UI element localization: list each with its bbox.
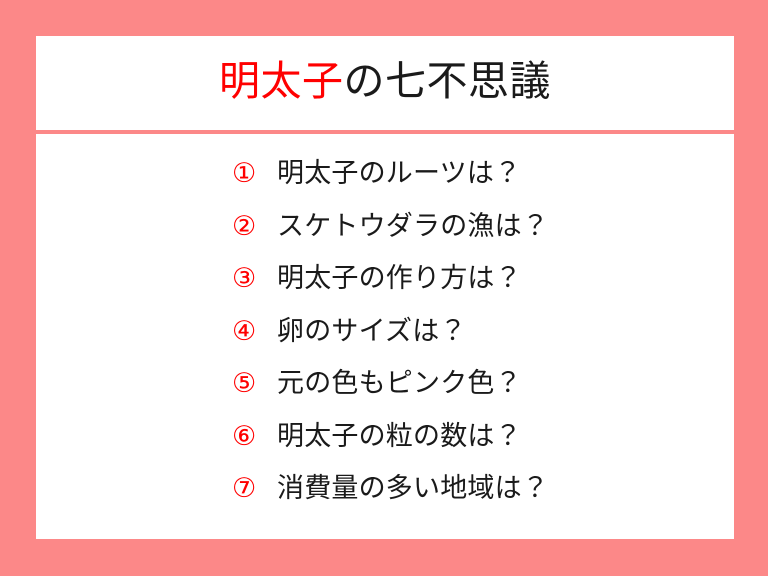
list-item: ④ 卵のサイズは？ <box>232 318 549 371</box>
list-item-marker: ④ <box>232 318 277 345</box>
body-panel: ① 明太子のルーツは？ ② スケトウダラの漁は？ ③ 明太子の作り方は？ ④ 卵… <box>36 134 734 539</box>
slide-root: 明太子の七不思議 ① 明太子のルーツは？ ② スケトウダラの漁は？ ③ 明太子の… <box>0 0 768 576</box>
list-item: ⑤ 元の色もピンク色？ <box>232 370 549 423</box>
list-item: ① 明太子のルーツは？ <box>232 160 549 213</box>
list-item-marker: ② <box>232 213 277 240</box>
list-item-label: 元の色もピンク色？ <box>277 370 522 397</box>
list-item-label: スケトウダラの漁は？ <box>277 213 549 240</box>
list-item-marker: ⑥ <box>232 423 277 450</box>
list-item: ⑥ 明太子の粒の数は？ <box>232 423 549 476</box>
page-title: 明太子の七不思議 <box>219 61 551 102</box>
list-item-label: 卵のサイズは？ <box>277 318 467 345</box>
title-panel: 明太子の七不思議 <box>36 36 734 130</box>
list-item-marker: ⑦ <box>232 475 277 502</box>
list-item: ② スケトウダラの漁は？ <box>232 213 549 266</box>
list-item: ③ 明太子の作り方は？ <box>232 265 549 318</box>
list-item-label: 明太子の粒の数は？ <box>277 423 522 450</box>
list-item-marker: ① <box>232 160 277 187</box>
list-item: ⑦ 消費量の多い地域は？ <box>232 475 549 528</box>
list-item-marker: ⑤ <box>232 370 277 397</box>
list-item-label: 明太子の作り方は？ <box>277 265 522 292</box>
list-item-marker: ③ <box>232 265 277 292</box>
question-list: ① 明太子のルーツは？ ② スケトウダラの漁は？ ③ 明太子の作り方は？ ④ 卵… <box>232 160 549 528</box>
list-item-label: 消費量の多い地域は？ <box>277 475 549 502</box>
page-title-rest: の七不思議 <box>344 57 552 105</box>
page-title-highlight: 明太子 <box>219 57 344 105</box>
list-item-label: 明太子のルーツは？ <box>277 160 521 187</box>
